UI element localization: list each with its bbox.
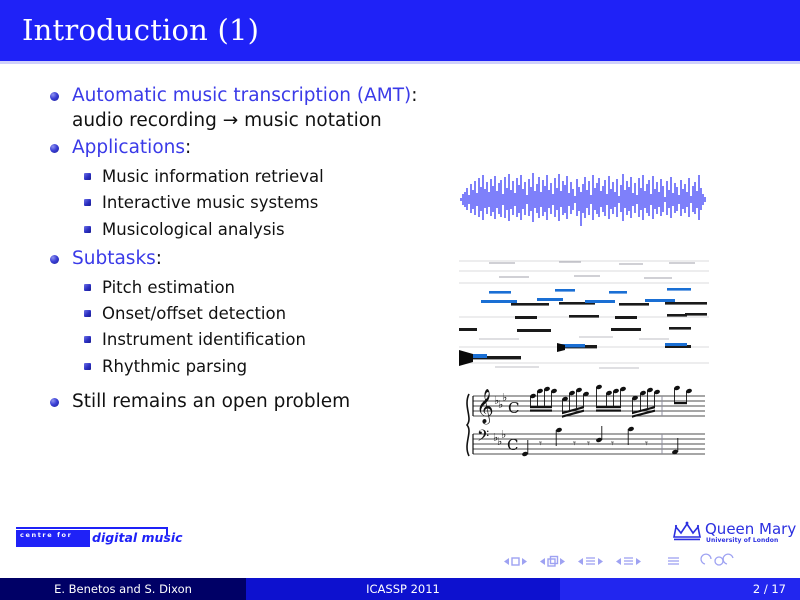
- svg-text:C: C: [507, 436, 518, 454]
- svg-text:𝄞: 𝄞: [476, 389, 494, 425]
- svg-text:♭: ♭: [501, 428, 506, 441]
- previous-section-icon: [616, 558, 621, 565]
- list-item: Pitch estimation: [0, 275, 460, 301]
- logo-wordmark: digital music: [92, 530, 183, 545]
- audio-waveform-icon: [459, 170, 709, 228]
- document-icon: [668, 558, 679, 564]
- back-icon: [701, 554, 711, 564]
- svg-text:𝄾: 𝄾: [611, 437, 614, 450]
- list-item: Still remains an open problem: [0, 390, 460, 415]
- first-slide-icon: [504, 558, 509, 565]
- list-item-highlight: Applications: [72, 137, 185, 158]
- search-icon: [715, 557, 723, 565]
- next-frame-icon: [560, 558, 565, 565]
- svg-text:𝄾: 𝄾: [539, 437, 542, 450]
- list-item: Rhythmic parsing: [0, 354, 460, 380]
- queen-mary-logo: Queen Mary University of London: [672, 519, 788, 551]
- list-item: Musicological analysis: [0, 217, 460, 243]
- spectrogram-figure: [459, 250, 709, 374]
- footer-conference: ICASSP 2011: [246, 578, 560, 600]
- list-item-text: :: [185, 137, 191, 158]
- footer-author: E. Benetos and S. Dixon: [0, 578, 246, 600]
- spectrogram-icon: [459, 250, 709, 374]
- sub-list-item-label: Music information retrieval: [102, 167, 324, 186]
- previous-frame-icon: [540, 558, 545, 565]
- page-title: Introduction (1): [22, 13, 259, 47]
- list-item-highlight: Automatic music transcription (AMT): [72, 85, 411, 106]
- sub-list-item-label: Instrument identification: [102, 330, 306, 349]
- list-item: Interactive music systems: [0, 190, 460, 216]
- sub-list: Music information retrieval Interactive …: [0, 164, 460, 243]
- logo-box-label: centre for: [20, 531, 72, 539]
- audio-waveform-figure: [459, 170, 709, 228]
- sub-list-item-label: Onset/offset detection: [102, 304, 286, 323]
- list-item: Automatic music transcription (AMT): aud…: [0, 84, 460, 133]
- figure-column: 𝄞 𝄢 ♭♭ ♭ ♭♭ ♭ C C: [459, 170, 709, 462]
- sub-list-item-label: Rhythmic parsing: [102, 357, 247, 376]
- footer-page-number: 2 / 17: [560, 578, 800, 600]
- presentation-slide: Introduction (1) Automatic music transcr…: [0, 0, 800, 600]
- list-item: Onset/offset detection: [0, 301, 460, 327]
- logo-rule: [16, 527, 168, 529]
- sub-list: Pitch estimation Onset/offset detection …: [0, 275, 460, 381]
- svg-text:C: C: [508, 399, 519, 417]
- queen-mary-name: Queen Mary: [705, 520, 796, 538]
- bullet-icon: [50, 398, 59, 407]
- forward-icon: [723, 554, 733, 564]
- title-bar-underline: [0, 61, 800, 64]
- list-item-text: Still remains an open problem: [72, 391, 350, 412]
- sub-list-item-label: Pitch estimation: [102, 278, 235, 297]
- bullet-icon: [84, 336, 91, 343]
- music-notation-icon: 𝄞 𝄢 ♭♭ ♭ ♭♭ ♭ C C: [459, 382, 709, 462]
- list-item: Applications:: [0, 136, 460, 161]
- subsection-icon: [586, 558, 595, 564]
- slide-icon: [512, 558, 519, 565]
- queen-mary-subtitle: University of London: [706, 537, 778, 544]
- bullet-icon: [84, 310, 91, 317]
- sub-list-item-label: Interactive music systems: [102, 193, 318, 212]
- list-item: Subtasks:: [0, 247, 460, 272]
- list-item-text: :: [156, 248, 162, 269]
- bullet-icon: [84, 199, 91, 206]
- next-subsection-icon: [598, 558, 603, 565]
- next-section-icon: [636, 558, 641, 565]
- svg-text:𝄾: 𝄾: [645, 437, 648, 450]
- svg-text:𝄾: 𝄾: [587, 437, 590, 450]
- svg-text:♭: ♭: [502, 391, 507, 404]
- navigation-symbols[interactable]: [500, 553, 790, 570]
- bullet-icon: [50, 255, 59, 264]
- svg-text:𝄾: 𝄾: [573, 437, 576, 450]
- bullet-icon: [50, 144, 59, 153]
- sub-list-item-label: Musicological analysis: [102, 220, 285, 239]
- next-slide-icon: [522, 558, 527, 565]
- bullet-icon: [50, 92, 59, 101]
- bullet-icon: [84, 173, 91, 180]
- list-item-highlight: Subtasks: [72, 248, 156, 269]
- music-score-figure: 𝄞 𝄢 ♭♭ ♭ ♭♭ ♭ C C: [459, 382, 709, 462]
- list-item: Music information retrieval: [0, 164, 460, 190]
- centre-for-digital-music-logo: centre for digital music: [16, 527, 168, 552]
- crown-icon: [672, 521, 702, 541]
- list-item: Instrument identification: [0, 327, 460, 353]
- svg-text:𝄢: 𝄢: [477, 427, 489, 449]
- section-icon: [624, 558, 633, 564]
- slide-body: Automatic music transcription (AMT): aud…: [0, 84, 460, 418]
- bullet-icon: [84, 284, 91, 291]
- bullet-icon: [84, 363, 91, 370]
- previous-subsection-icon: [578, 558, 583, 565]
- frame-icon: [551, 557, 558, 564]
- slide-footer: E. Benetos and S. Dixon ICASSP 2011 2 / …: [0, 578, 800, 600]
- bullet-icon: [84, 226, 91, 233]
